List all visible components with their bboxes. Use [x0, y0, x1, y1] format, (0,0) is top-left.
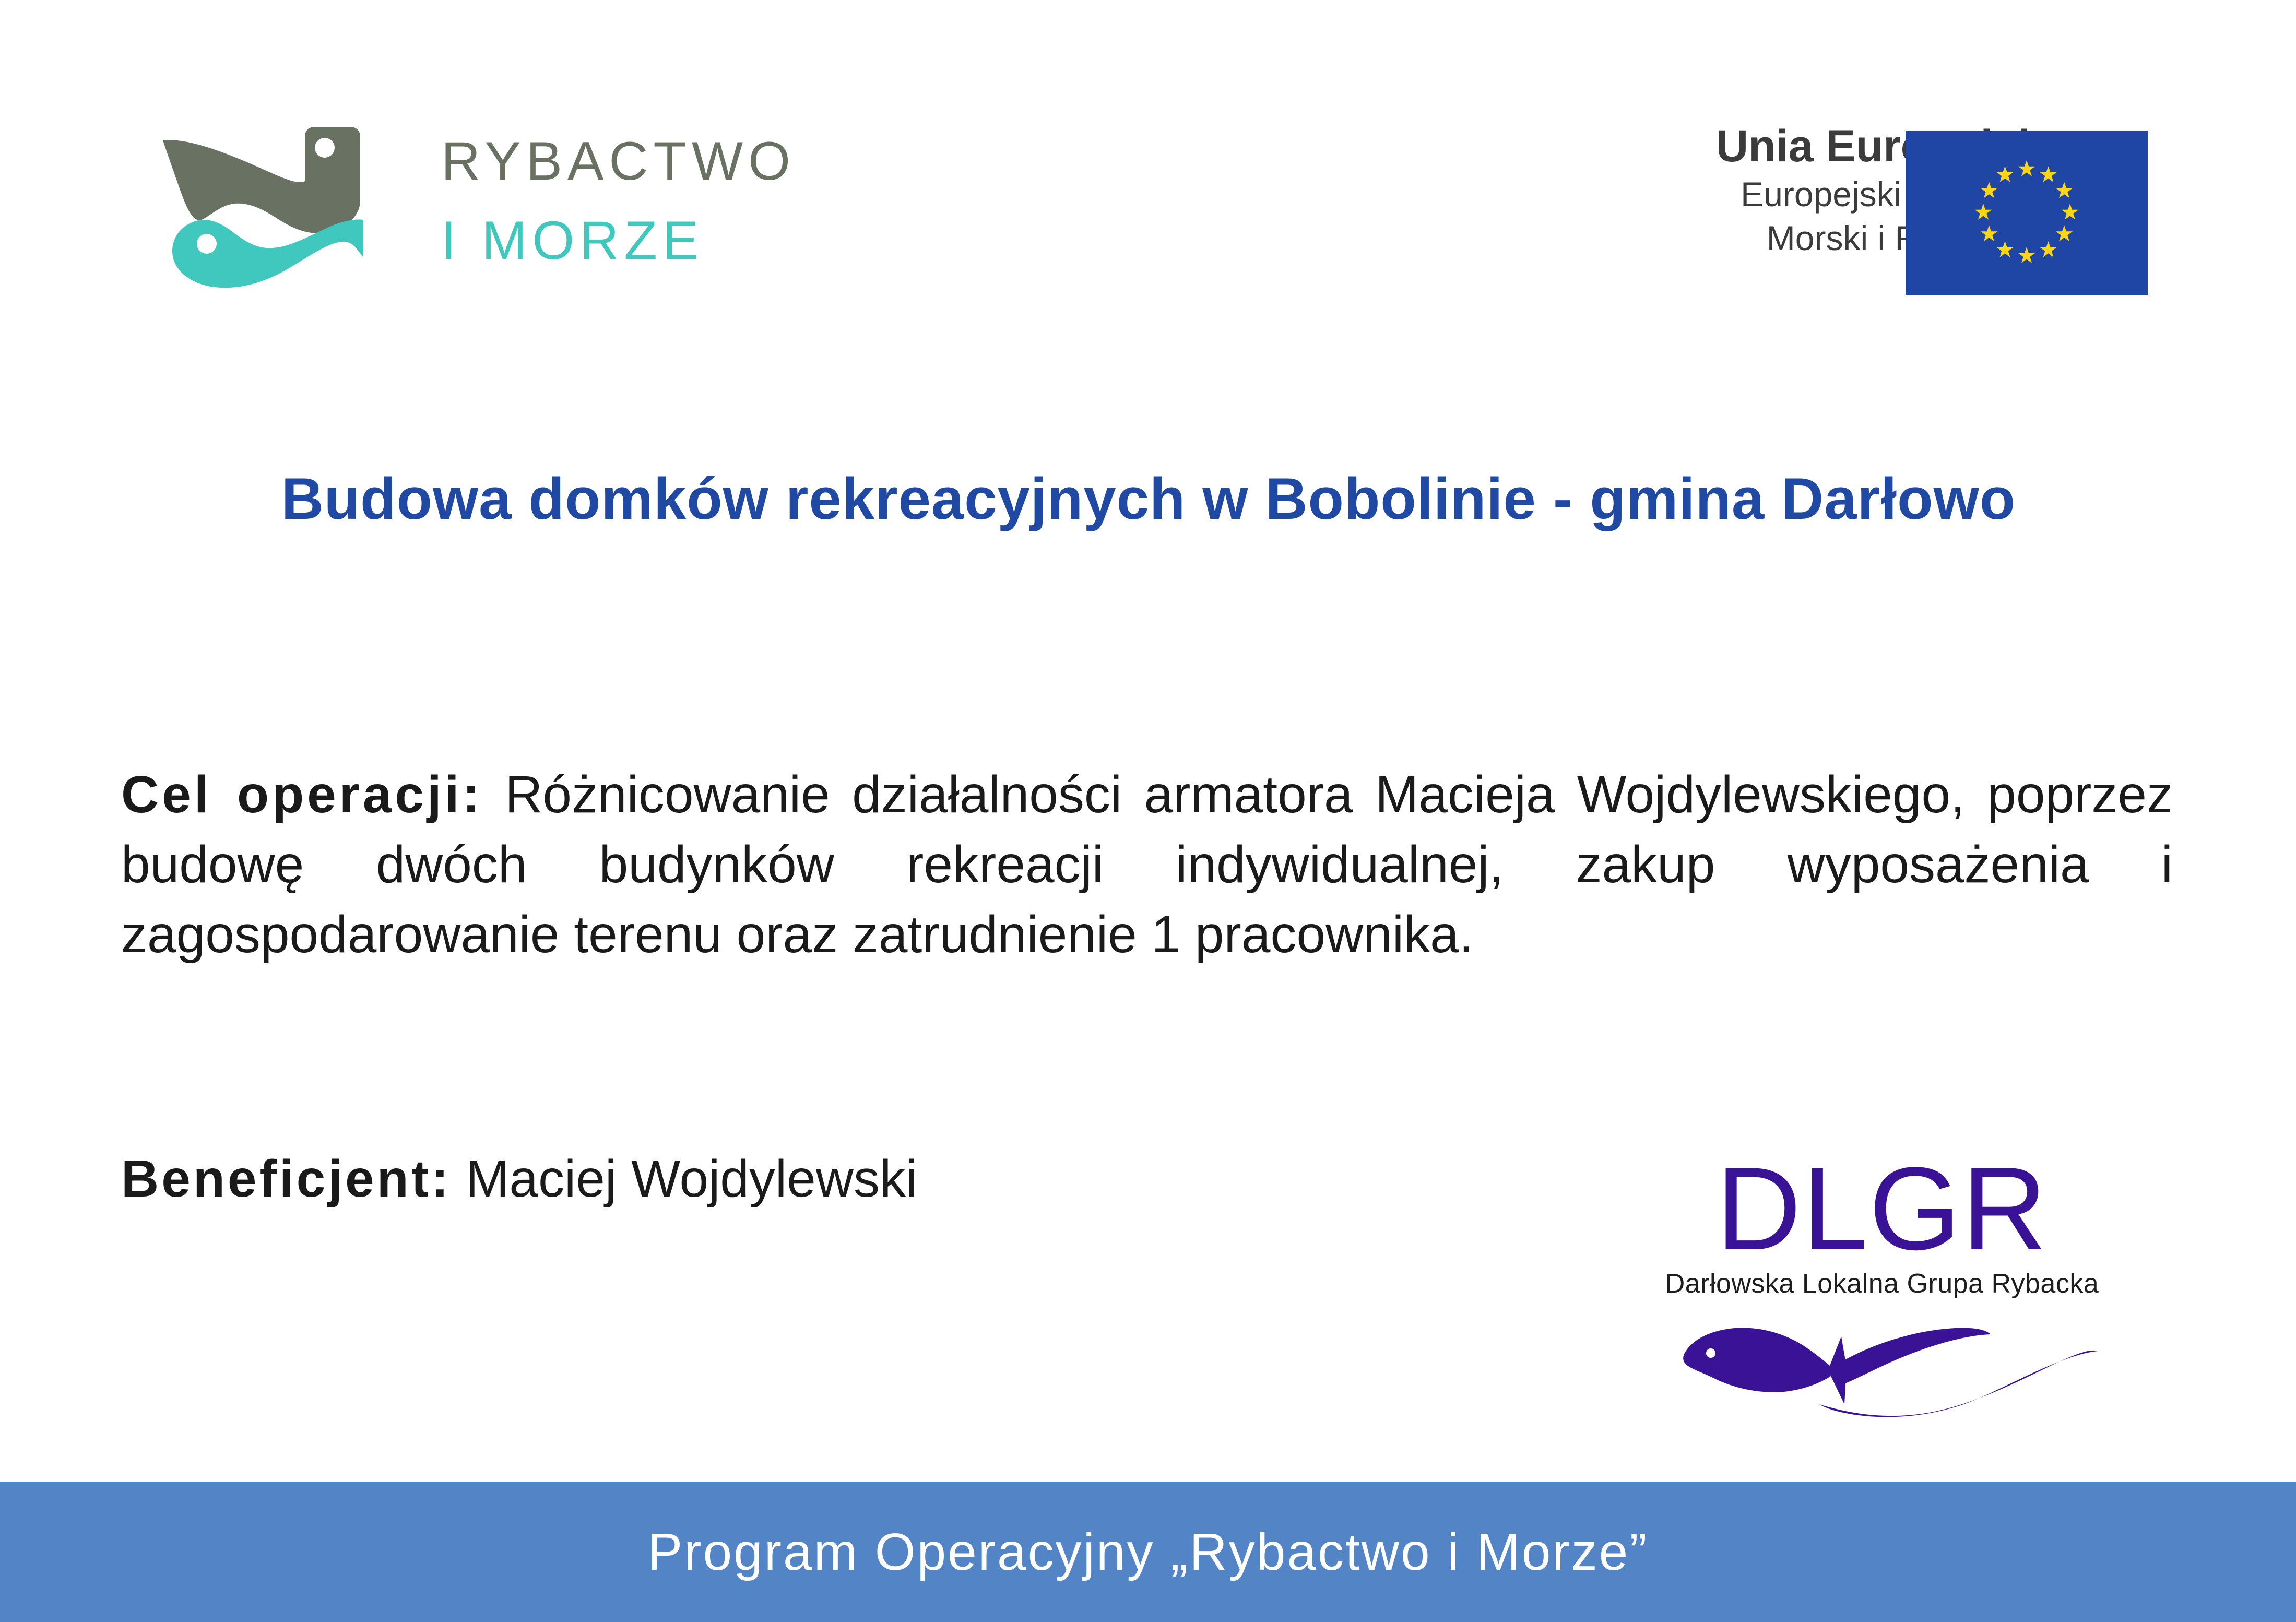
european-union-flag [1906, 131, 2148, 295]
rybactwo-wordmark: RYBACTWO I MORZE [441, 128, 843, 290]
boat-and-fish-icon [157, 123, 365, 295]
logo-line-rybactwo: RYBACTWO [441, 128, 843, 195]
beneficiary-name: Maciej Wojdylewski [466, 1150, 917, 1208]
dlgr-letters: DLGR [1647, 1149, 2117, 1269]
rybactwo-i-morze-logo: RYBACTWO I MORZE [157, 123, 846, 295]
dlgr-logo: DLGR Darłowska Lokalna Grupa Rybacka [1647, 1149, 2117, 1430]
dlgr-subtitle: Darłowska Lokalna Grupa Rybacka [1647, 1268, 2117, 1300]
beneficiary-label: Beneficjent: [121, 1150, 451, 1208]
header: RYBACTWO I MORZE Unia Europejska Europej… [0, 0, 2296, 334]
fish-and-waves-icon [1647, 1305, 2117, 1430]
page-title: Budowa domków rekreacyjnych w Bobolinie … [157, 459, 2140, 539]
beneficiary-line: Beneficjent: Maciej Wojdylewski [121, 1146, 1478, 1212]
operation-goal-label: Cel operacji: [121, 765, 483, 824]
footer-text: Program Operacyjny „Rybactwo i Morze” [647, 1521, 1648, 1583]
logo-line-i-morze: I MORZE [441, 207, 843, 274]
footer-bar: Program Operacyjny „Rybactwo i Morze” [0, 1482, 2296, 1622]
operation-goal-paragraph: Cel operacji: Różnicowanie działalności … [121, 760, 2173, 969]
poster-root: RYBACTWO I MORZE Unia Europejska Europej… [0, 0, 2296, 1622]
